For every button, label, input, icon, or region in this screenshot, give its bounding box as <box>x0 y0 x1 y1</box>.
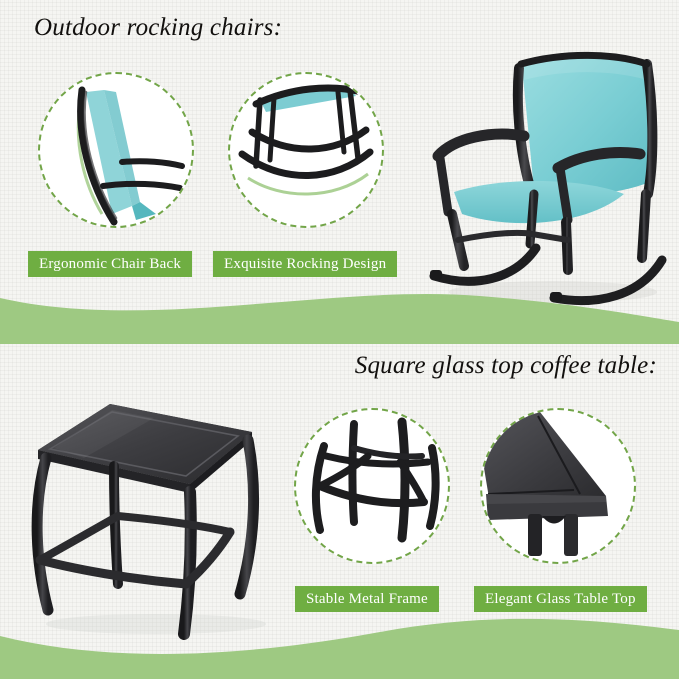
metal-frame-detail-illustration <box>296 410 448 562</box>
chair-back-detail-illustration <box>40 74 192 226</box>
detail-circle-glass-table-top <box>480 408 636 564</box>
caption-exquisite-rocking-design: Exquisite Rocking Design <box>213 251 397 277</box>
detail-circle-ergonomic-chair-back <box>38 72 194 228</box>
section-title-table: Square glass top coffee table: <box>355 352 657 380</box>
detail-circle-rocking-design <box>228 72 384 228</box>
caption-stable-metal-frame: Stable Metal Frame <box>295 586 439 612</box>
infographic-page: Outdoor rocking chairs: Ergonomic Chair … <box>0 0 679 679</box>
rocker-rail-detail-illustration <box>230 74 382 226</box>
caption-ergonomic-chair-back: Ergonomic Chair Back <box>28 251 192 277</box>
section-title-chairs: Outdoor rocking chairs: <box>34 14 282 42</box>
detail-circle-stable-metal-frame <box>294 408 450 564</box>
rocking-chair-photo <box>418 44 679 316</box>
glass-top-corner-detail-illustration <box>482 410 634 562</box>
caption-elegant-glass-table-top: Elegant Glass Table Top <box>474 586 647 612</box>
side-table-photo <box>14 388 292 640</box>
